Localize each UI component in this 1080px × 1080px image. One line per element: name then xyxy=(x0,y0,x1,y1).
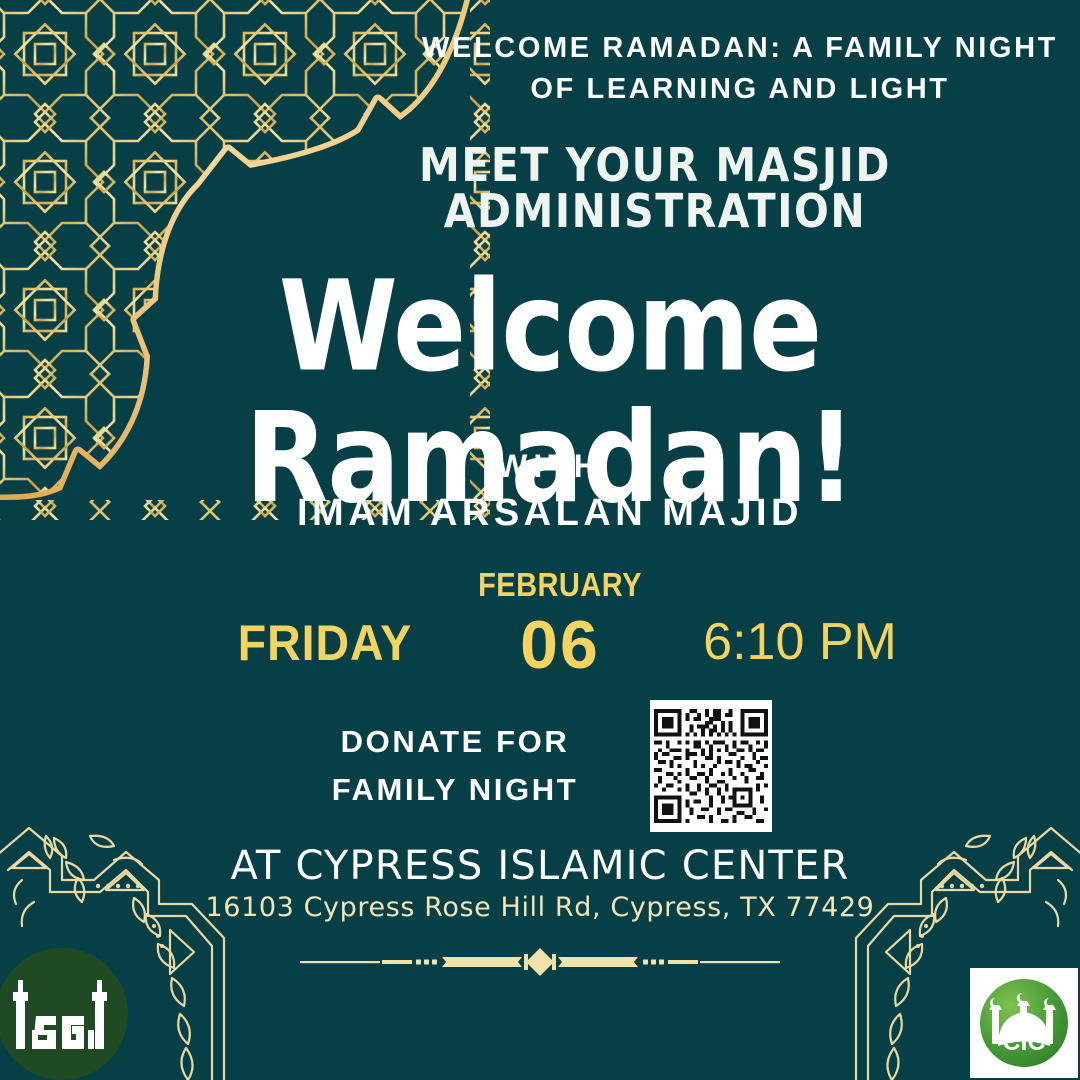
subheading: MEET YOUR MASJID ADMINISTRATION xyxy=(230,143,1080,235)
isgh-logo xyxy=(0,944,132,1080)
event-time: 6:10 PM xyxy=(650,612,950,672)
qr-code-svg xyxy=(654,704,768,828)
cic-logo: CIC xyxy=(970,968,1078,1078)
main-title: Welcome Ramadan! xyxy=(120,262,980,525)
venue-address: 16103 Cypress Rose Hill Rd, Cypress, TX … xyxy=(140,892,940,923)
cic-logo-svg: CIC xyxy=(970,968,1078,1078)
day-number: 06 xyxy=(440,606,680,684)
cic-logo-text: CIC xyxy=(1002,1028,1045,1056)
day-of-week: FRIDAY xyxy=(213,614,436,672)
page-title: WELCOME RAMADAN: A FAMILY NIGHT OF LEARN… xyxy=(400,28,1080,110)
flyer-canvas: WELCOME RAMADAN: A FAMILY NIGHT OF LEARN… xyxy=(0,0,1080,1080)
ornamental-divider xyxy=(290,940,790,986)
venue-name: AT CYPRESS ISLAMIC CENTER xyxy=(140,843,940,889)
speaker-name: IMAM ARSALAN MAJID xyxy=(200,492,900,535)
month-label: FEBRUARY xyxy=(454,566,665,604)
isgh-logo-svg xyxy=(0,944,132,1080)
donation-qr-code[interactable] xyxy=(650,700,772,832)
donate-label: DONATE FOR FAMILY NIGHT xyxy=(285,718,625,814)
donate-line-2: FAMILY NIGHT xyxy=(285,766,625,814)
donate-line-1: DONATE FOR xyxy=(285,718,625,766)
with-label: WITH xyxy=(240,448,860,485)
date-time-block: FRIDAY FEBRUARY 06 6:10 PM xyxy=(0,560,1080,675)
